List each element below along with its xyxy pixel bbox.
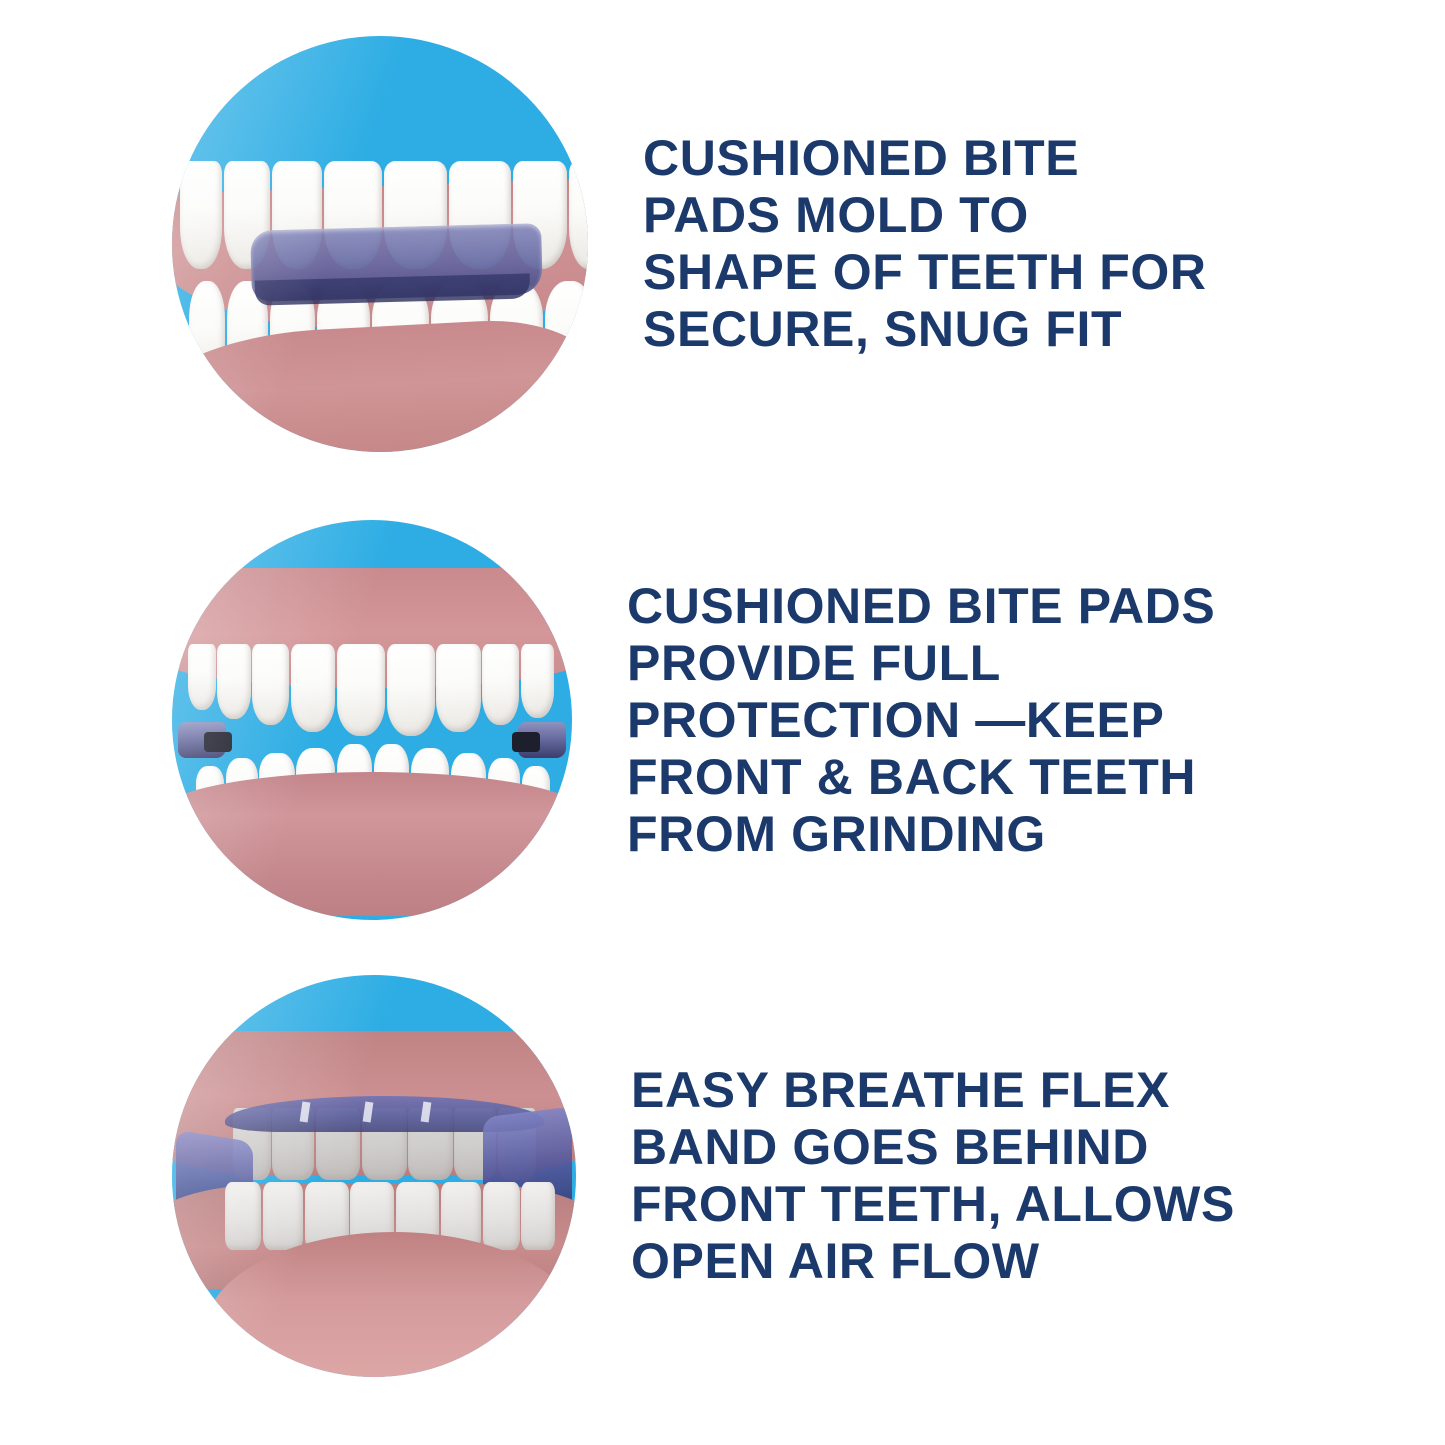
feature-row-1: CUSHIONED BITE PADS MOLD TO SHAPE OF TEE… (0, 35, 1445, 453)
feature-image-cushioned-bite-pads-protection (172, 520, 572, 920)
feature-row-3: EASY BREATHE FLEX BAND GOES BEHIND FRONT… (0, 975, 1445, 1377)
tooth (225, 1182, 262, 1250)
tooth (387, 644, 435, 736)
dental-scene-side-bite (172, 36, 588, 452)
tooth (180, 161, 222, 269)
tooth (252, 644, 289, 725)
tooth (263, 1182, 303, 1250)
feature-image-cushioned-bite-pads-mold (172, 36, 588, 452)
tooth (291, 644, 335, 732)
tooth (483, 1182, 520, 1250)
lower-gum (172, 772, 572, 916)
tooth (217, 644, 250, 719)
feature-text-easy-breathe-flex-band: EASY BREATHE FLEX BAND GOES BEHIND FRONT… (631, 1062, 1445, 1290)
tooth (188, 644, 216, 710)
feature-image-easy-breathe-flex-band (172, 975, 576, 1377)
tooth (521, 1182, 555, 1250)
tooth (337, 644, 385, 736)
tooth (436, 644, 480, 732)
dental-scene-front-bite (172, 520, 572, 920)
feature-row-2: CUSHIONED BITE PADS PROVIDE FULL PROTECT… (0, 520, 1445, 920)
feature-text-cushioned-bite-pads-protection: CUSHIONED BITE PADS PROVIDE FULL PROTECT… (627, 578, 1445, 863)
product-feature-infographic: CUSHIONED BITE PADS MOLD TO SHAPE OF TEE… (0, 0, 1445, 1445)
tooth (521, 644, 554, 718)
dental-scene-inside-mouth (172, 975, 576, 1377)
feature-text-cushioned-bite-pads-mold: CUSHIONED BITE PADS MOLD TO SHAPE OF TEE… (643, 130, 1445, 358)
upper-teeth-row (188, 644, 556, 736)
tooth (482, 644, 519, 725)
tooth (569, 161, 588, 269)
